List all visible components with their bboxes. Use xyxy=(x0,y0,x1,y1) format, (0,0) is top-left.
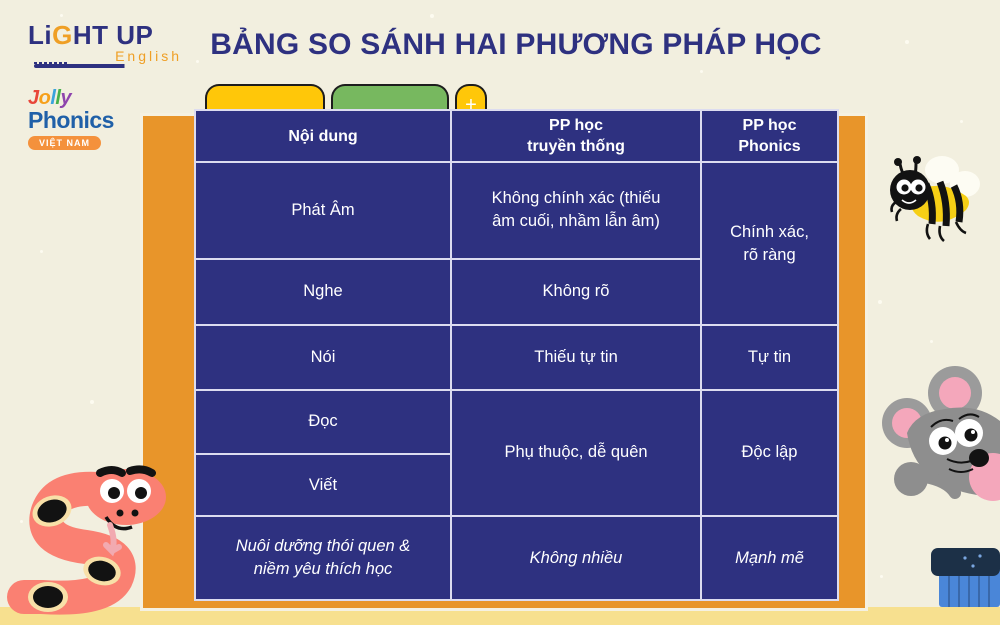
cell-phonics-chinh-xac-line2: rõ ràng xyxy=(743,246,795,264)
header-pp-phonics-line1: PP học xyxy=(743,117,797,134)
cell-traditional-phu-thuoc: Phụ thuộc, dễ quên xyxy=(451,390,701,517)
speckle xyxy=(40,250,43,253)
lightup-g: G xyxy=(52,20,73,50)
jolly-letter-o: o xyxy=(39,87,51,109)
cell-topic-nghe: Nghe xyxy=(195,259,451,326)
lightup-underline-graphic xyxy=(34,64,150,68)
header-pp-phonics: PP học Phonics xyxy=(701,110,838,162)
speckle xyxy=(905,40,909,44)
cell-topic-nuoi-duong-line1: Nuôi dưỡng thói quen & xyxy=(236,537,411,555)
cell-phonics-manh-me: Mạnh mẽ xyxy=(701,516,838,600)
mouse-illustration xyxy=(885,365,1000,515)
cell-topic-noi: Nói xyxy=(195,325,451,389)
speckle xyxy=(960,120,963,123)
speckle xyxy=(878,300,882,304)
lightup-li: Li xyxy=(28,20,52,50)
speckle xyxy=(430,14,434,18)
header-pp-phonics-line2: Phonics xyxy=(738,138,800,155)
cell-topic-nuoi-duong-line2: niềm yêu thích học xyxy=(254,560,393,578)
table-row: Nói Thiếu tự tin Tự tin xyxy=(195,325,838,389)
header-pp-truyen-thong-line1: PP học xyxy=(549,117,603,134)
speckle xyxy=(930,340,933,343)
jolly-wordmark: Jolly xyxy=(28,88,138,108)
header-pp-truyen-thong: PP học truyền thống xyxy=(451,110,701,162)
snake-illustration xyxy=(8,455,173,615)
cell-phonics-chinh-xac: Chính xác, rõ ràng xyxy=(701,162,838,325)
speckle xyxy=(700,70,703,73)
cell-traditional-khong-nhieu: Không nhiều xyxy=(451,516,701,600)
book-illustration xyxy=(925,548,1000,610)
lightup-ht: HT xyxy=(73,20,116,50)
table-row: Đọc Phụ thuộc, dễ quên Độc lập xyxy=(195,390,838,454)
vietnam-badge: VIỆT NAM xyxy=(28,136,101,150)
jolly-letter-y: y xyxy=(60,87,71,109)
jolly-phonics-logo: Jolly Phonics VIỆT NAM xyxy=(28,88,138,144)
lightup-up: UP xyxy=(116,20,153,50)
table-row: Nuôi dưỡng thói quen & niềm yêu thích họ… xyxy=(195,516,838,600)
table-header-row: Nội dung PP học truyền thống PP học Phon… xyxy=(195,110,838,162)
speckle xyxy=(880,575,883,578)
phonics-wordmark: Phonics xyxy=(28,108,138,133)
table-row: Phát Âm Không chính xác (thiếu âm cuối, … xyxy=(195,162,838,259)
page-title: BẢNG SO SÁNH HAI PHƯƠNG PHÁP HỌC xyxy=(196,28,836,62)
cell-traditional-nghe: Không rõ xyxy=(451,259,701,326)
lightup-english-logo: LiGHT UP English xyxy=(28,22,184,70)
header-noi-dung-label: Nội dung xyxy=(288,128,357,145)
cell-topic-doc: Đọc xyxy=(195,390,451,454)
cell-topic-nuoi-duong: Nuôi dưỡng thói quen & niềm yêu thích họ… xyxy=(195,516,451,600)
cell-traditional-noi: Thiếu tự tin xyxy=(451,325,701,389)
comparison-table: Nội dung PP học truyền thống PP học Phon… xyxy=(194,109,839,601)
cell-topic-phat-am: Phát Âm xyxy=(195,162,451,259)
cell-traditional-phat-am: Không chính xác (thiếu âm cuối, nhầm lẫn… xyxy=(451,162,701,259)
speckle xyxy=(60,14,63,17)
cell-traditional-phat-am-line1: Không chính xác (thiếu xyxy=(492,189,661,207)
cell-phonics-chinh-xac-line1: Chính xác, xyxy=(730,223,809,241)
cell-phonics-tu-tin: Tự tin xyxy=(701,325,838,389)
header-pp-truyen-thong-line2: truyền thống xyxy=(527,138,625,155)
lightup-wordmark: LiGHT UP xyxy=(28,22,184,48)
cell-traditional-phat-am-line2: âm cuối, nhầm lẫn âm) xyxy=(492,212,660,230)
speckle xyxy=(90,400,94,404)
bee-illustration xyxy=(880,152,990,247)
cell-phonics-doc-lap: Độc lập xyxy=(701,390,838,517)
jolly-letter-j: J xyxy=(28,87,39,109)
header-noi-dung: Nội dung xyxy=(195,110,451,162)
cell-topic-viet: Viết xyxy=(195,454,451,516)
